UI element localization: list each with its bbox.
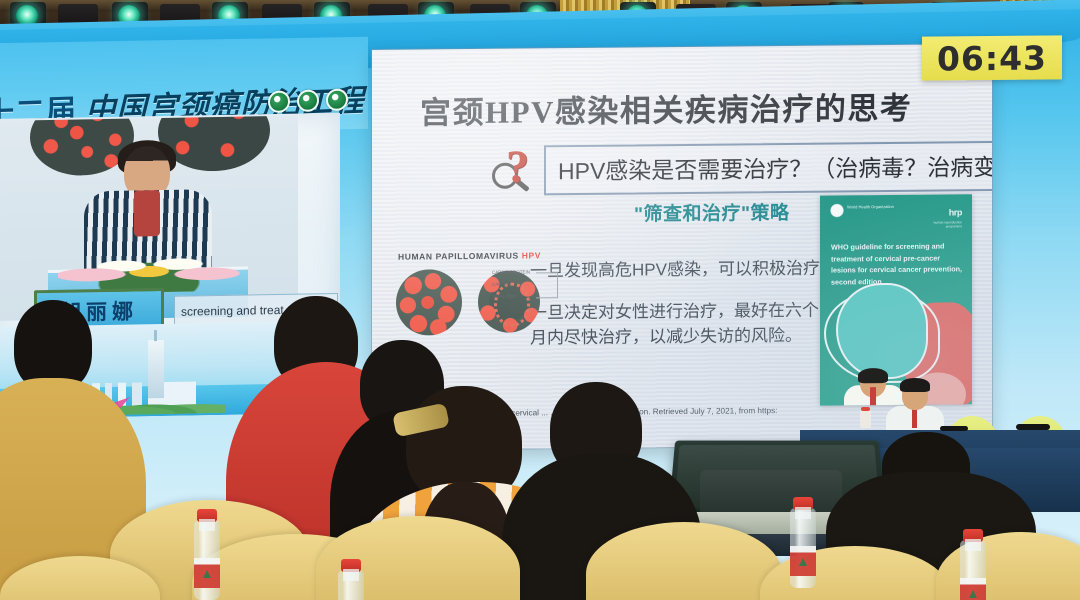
flower-arrangement	[58, 245, 240, 294]
stage-microphone-icon	[940, 426, 968, 431]
water-bottle	[338, 570, 364, 600]
slide-bullet-1: 一旦发现高危HPV感染，可以积极治疗	[530, 256, 820, 284]
bottle-label	[194, 558, 220, 588]
hpv-virion-cutaway-icon	[478, 270, 540, 333]
bottle-label	[790, 546, 816, 576]
slide-strategy-heading: "筛查和治疗"策略	[634, 198, 790, 226]
stage-speaker-hair	[900, 378, 930, 392]
cover-person-tie	[870, 387, 876, 406]
who-cover-title: WHO guideline for screening and treatmen…	[831, 240, 963, 287]
stage-microphone-icon	[1016, 424, 1050, 430]
hpv-diagram-leader-lines: CAPSID PROTEIN CAPSID VIRAL DNA	[536, 272, 558, 298]
hpv-leader-label-1: CAPSID PROTEIN	[492, 269, 530, 274]
hrp-logo-subtext: human reproduction programme	[918, 220, 962, 228]
stage-water-bottle	[860, 410, 871, 428]
hpv-leader-label-3: VIRAL DNA	[492, 294, 516, 299]
slide-bullet-2: 一旦决定对女性进行治疗，最好在六个 月内尽快治疗，以减少失访的风险。	[530, 298, 819, 351]
audience-person	[0, 300, 110, 600]
conference-hall-scene: 十二届 中国宫颈癌防治工程 学术年会 胡丽娜 screening and tre…	[0, 0, 1080, 600]
who-logo-text: World Health Organization	[847, 204, 894, 209]
question-mark-magnifier-icon: ?	[490, 144, 544, 197]
slide-question-row: ? HPV感染是否需要治疗？（治病毒？治病变？）	[490, 139, 992, 196]
hrp-logo-icon: hrp human reproduction programme	[918, 202, 962, 216]
organization-logo-icon	[268, 90, 290, 113]
hpv-diagram-label-main: HUMAN PAPILLOMAVIRUS	[398, 251, 522, 262]
water-bottle	[960, 540, 986, 600]
water-bottle	[194, 520, 220, 600]
hpv-leader-label-2: CAPSID	[492, 282, 509, 287]
timer-value: 06:43	[937, 38, 1047, 78]
organization-logo-icon	[297, 89, 319, 112]
hrp-logo-text: hrp	[949, 207, 962, 217]
slide-title: 宫颈HPV感染相关疾病治疗的思考	[420, 83, 912, 133]
stage-speaker-tie	[912, 408, 917, 428]
countdown-timer: 06:43	[922, 35, 1062, 80]
bottle-neck	[343, 569, 359, 581]
stage-speaker	[884, 378, 948, 434]
organization-logo-icon	[326, 88, 348, 111]
question-mark-icon: ?	[506, 144, 529, 188]
bottle-neck	[795, 507, 811, 519]
who-logo-icon: World Health Organization	[830, 203, 876, 217]
hpv-diagram-label-accent: HPV	[522, 250, 541, 260]
hpv-diagram-label: HUMAN PAPILLOMAVIRUS HPV	[398, 250, 541, 261]
water-bottle	[790, 508, 816, 588]
bottle-label	[960, 578, 986, 600]
bottle-neck	[965, 539, 981, 551]
bottle-neck	[199, 519, 215, 531]
banner-logos	[268, 88, 348, 113]
artwork-shape-teal	[836, 283, 928, 380]
who-guideline-cover: World Health Organization hrp human repr…	[820, 194, 972, 405]
illustration-tower	[148, 340, 164, 398]
slide-question-text: HPV感染是否需要治疗？（治病毒？治病变？）	[544, 140, 992, 195]
speaker-scarf	[134, 190, 160, 236]
